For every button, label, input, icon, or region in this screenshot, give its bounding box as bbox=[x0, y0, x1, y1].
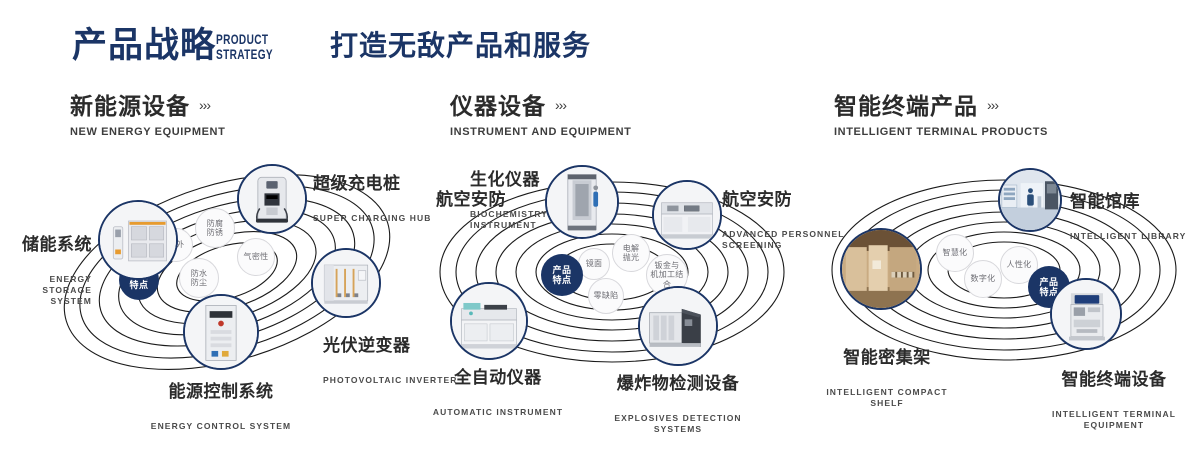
page-title-cn: 产品战略 bbox=[72, 28, 216, 63]
caption-cn: 智能馆库 bbox=[1070, 192, 1200, 211]
section-title-en: INSTRUMENT AND EQUIPMENT bbox=[450, 126, 631, 138]
chevrons-right-icon: ››› bbox=[987, 97, 998, 113]
charging-pile-icon bbox=[239, 166, 305, 232]
caption-en: EXPLOSIVES DETECTION SYSTEMS bbox=[598, 413, 758, 435]
section-heading-instrument: 仪器设备››› INSTRUMENT AND EQUIPMENT bbox=[450, 95, 631, 138]
section-heading-intelligent-terminal: 智能终端产品››› INTELLIGENT TERMINAL PRODUCTS bbox=[834, 95, 1048, 138]
section-heading-new-energy: 新能源设备››› NEW ENERGY EQUIPMENT bbox=[70, 95, 225, 138]
caption-intelligent-compact-shelf: 智能密集架 INTELLIGENT COMPACT SHELF bbox=[812, 330, 962, 427]
product-strategy-infographic: 产品战略 PRODUCT STRATEGY 打造无敌产品和服务 新能源设备›››… bbox=[0, 0, 1200, 422]
cluster-intelligent-terminal: 智慧化 数字化 人性化 产品 特点 智能馆库 I bbox=[818, 150, 1188, 395]
caption-en: INTELLIGENT TERMINAL EQUIPMENT bbox=[1028, 409, 1200, 431]
caption-cn: 储能系统 bbox=[10, 235, 92, 254]
caption-en: AUTOMATIC INSTRUMENT bbox=[408, 407, 588, 418]
caption-intelligent-terminal-equipment: 智能终端设备 INTELLIGENT TERMINAL EQUIPMENT bbox=[1028, 352, 1200, 449]
section-title-en: NEW ENERGY EQUIPMENT bbox=[70, 126, 225, 138]
caption-energy-storage-system: 储能系统 ENERGY STORAGE SYSTEM bbox=[10, 217, 92, 325]
node-intelligent-terminal-equipment[interactable] bbox=[1050, 278, 1122, 350]
node-energy-control-system[interactable] bbox=[183, 294, 259, 370]
node-photovoltaic-inverter[interactable] bbox=[311, 248, 381, 318]
caption-en: BIOCHEMISTRY INSTRUMENT bbox=[470, 209, 590, 231]
pv-inverter-icon bbox=[313, 250, 379, 316]
chevrons-right-icon: ››› bbox=[199, 97, 210, 113]
cluster-instrument: 镜面 电解 抛光 钣金与 机加工结合 零缺陷 产品 特点 航空安防 生化仪器 bbox=[430, 150, 790, 395]
feature-bubble: 零缺陷 bbox=[588, 278, 624, 314]
node-explosives-detection-systems[interactable] bbox=[638, 286, 718, 366]
caption-intelligent-library: 智能馆库 INTELLIGENT LIBRARY bbox=[1070, 174, 1200, 260]
feature-bubble: 电解 抛光 bbox=[612, 234, 650, 272]
node-energy-storage-system[interactable] bbox=[98, 200, 178, 280]
node-intelligent-library[interactable] bbox=[998, 168, 1062, 232]
feature-bubble: 气密性 bbox=[237, 238, 275, 276]
caption-en: INTELLIGENT LIBRARY bbox=[1070, 231, 1200, 242]
feature-bubble: 数字化 bbox=[964, 260, 1002, 298]
caption-en: ENERGY STORAGE SYSTEM bbox=[10, 274, 92, 307]
library-room-icon bbox=[1000, 170, 1060, 230]
caption-cn: 智能终端设备 bbox=[1028, 370, 1200, 389]
compact-shelf-icon bbox=[842, 230, 920, 308]
core-bubble-product-features: 产品 特点 bbox=[541, 254, 583, 296]
caption-cn: 爆炸物检测设备 bbox=[598, 374, 758, 393]
caption-cn: 能源控制系统 bbox=[91, 382, 351, 401]
page-title-en: PRODUCT STRATEGY bbox=[216, 32, 273, 62]
node-intelligent-compact-shelf[interactable] bbox=[840, 228, 922, 310]
section-title-en: INTELLIGENT TERMINAL PRODUCTS bbox=[834, 126, 1048, 138]
feature-bubble: 防水 防尘 bbox=[179, 258, 219, 298]
node-automatic-instrument[interactable] bbox=[450, 282, 528, 360]
node-super-charging-hub[interactable] bbox=[237, 164, 307, 234]
node-advanced-personnel-screening[interactable] bbox=[652, 180, 722, 250]
caption-automatic-instrument: 全自动仪器 AUTOMATIC INSTRUMENT bbox=[408, 350, 588, 436]
caption-cn: 智能密集架 bbox=[812, 348, 962, 367]
section-title-cn: 新能源设备 bbox=[70, 95, 190, 118]
section-title-cn: 智能终端产品 bbox=[834, 95, 978, 118]
chevrons-right-icon: ››› bbox=[555, 97, 566, 113]
caption-en: ENERGY CONTROL SYSTEM bbox=[91, 421, 351, 432]
explosives-detector-icon bbox=[640, 288, 716, 364]
caption-cn: 全自动仪器 bbox=[408, 368, 588, 387]
caption-energy-control-system: 能源控制系统 ENERGY CONTROL SYSTEM bbox=[91, 364, 351, 450]
kiosk-terminal-icon bbox=[1052, 280, 1120, 348]
page-slogan: 打造无敌产品和服务 bbox=[330, 32, 591, 60]
caption-cn: 生化仪器 bbox=[470, 170, 590, 189]
screening-machine-icon bbox=[654, 182, 720, 248]
feature-bubble: 防腐 防锈 bbox=[195, 208, 235, 248]
caption-en: INTELLIGENT COMPACT SHELF bbox=[812, 387, 962, 409]
page-header: 产品战略 PRODUCT STRATEGY 打造无敌产品和服务 bbox=[0, 0, 1200, 86]
section-title-cn: 仪器设备 bbox=[450, 95, 546, 118]
caption-explosives-detection-systems: 爆炸物检测设备 EXPLOSIVES DETECTION SYSTEMS bbox=[598, 356, 758, 453]
control-cabinet-icon bbox=[185, 296, 257, 368]
energy-storage-cabinet-icon bbox=[100, 202, 176, 278]
automatic-instrument-icon bbox=[452, 284, 526, 358]
caption-biochemistry-instrument: 生化仪器 BIOCHEMISTRY INSTRUMENT bbox=[470, 152, 590, 249]
cluster-new-energy: 户外 防腐 防锈 防水 防尘 气密性 产品 特点 储能系统 ENERGY STO… bbox=[55, 150, 400, 390]
